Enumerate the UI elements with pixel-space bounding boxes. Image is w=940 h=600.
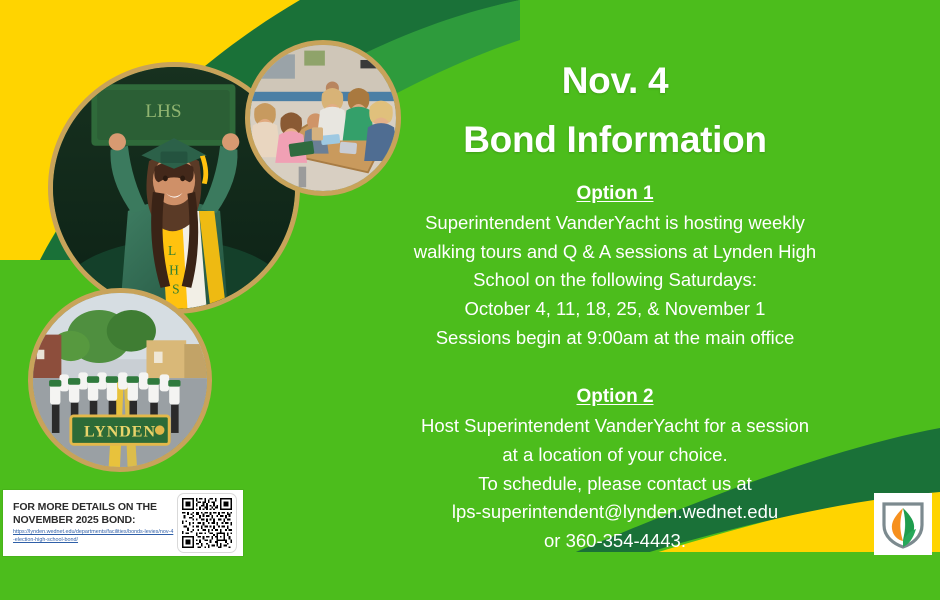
- option-1-line-4: October 4, 11, 18, 25, & November 1: [400, 295, 830, 324]
- option-1-lines: Superintendent VanderYacht is hosting we…: [400, 209, 830, 352]
- bond-details-url-link[interactable]: https://lynden.wednet.edu/departments/fa…: [13, 529, 174, 545]
- qr-card-heading-line-2: NOVEMBER 2025 BOND:: [13, 514, 174, 527]
- option-2-line-1: Host Superintendent VanderYacht for a se…: [400, 412, 830, 441]
- option-2-lines: Host Superintendent VanderYacht for a se…: [400, 412, 830, 555]
- qr-card-heading-line-1: FOR MORE DETAILS ON THE: [13, 501, 174, 514]
- qr-card-text: FOR MORE DETAILS ON THE NOVEMBER 2025 BO…: [6, 498, 178, 548]
- option-2-line-3: To schedule, please contact us at: [400, 470, 830, 499]
- lynden-school-district-logo[interactable]: [874, 493, 932, 555]
- shield-flame-logo-icon: [880, 499, 926, 549]
- bond-details-qr-card[interactable]: FOR MORE DETAILS ON THE NOVEMBER 2025 BO…: [3, 490, 243, 556]
- svg-text:H: H: [169, 262, 179, 277]
- bond-information-flyer: LHS L H S: [0, 0, 940, 600]
- photo-lynden-marching-band-parade: LYNDEN: [28, 288, 212, 472]
- svg-text:LYNDEN: LYNDEN: [84, 424, 156, 441]
- option-1-line-2: walking tours and Q & A sessions at Lynd…: [400, 238, 830, 267]
- svg-text:L: L: [168, 243, 176, 258]
- contact-phone[interactable]: or 360-354-4443.: [400, 527, 830, 556]
- option-2-block: Option 2 Host Superintendent VanderYacht…: [400, 386, 830, 555]
- headline-date: Nov. 4: [400, 60, 830, 101]
- flyer-text-content: Nov. 4 Bond Information Option 1 Superin…: [400, 60, 830, 556]
- option-1-heading: Option 1: [400, 183, 830, 205]
- page-title: Bond Information: [400, 119, 830, 160]
- svg-text:LHS: LHS: [145, 101, 181, 122]
- contact-email[interactable]: lps-superintendent@lynden.wednet.edu: [400, 498, 830, 527]
- photo-students-at-cafeteria-table: [245, 40, 401, 196]
- option-1-line-1: Superintendent VanderYacht is hosting we…: [400, 209, 830, 238]
- option-2-line-2: at a location of your choice.: [400, 441, 830, 470]
- qr-code[interactable]: [178, 494, 236, 552]
- svg-text:S: S: [172, 282, 179, 297]
- option-1-line-5: Sessions begin at 9:00am at the main off…: [400, 324, 830, 353]
- qr-code-icon: [182, 498, 232, 548]
- option-2-heading: Option 2: [400, 386, 830, 408]
- option-1-block: Option 1 Superintendent VanderYacht is h…: [400, 183, 830, 352]
- option-1-line-3: School on the following Saturdays:: [400, 266, 830, 295]
